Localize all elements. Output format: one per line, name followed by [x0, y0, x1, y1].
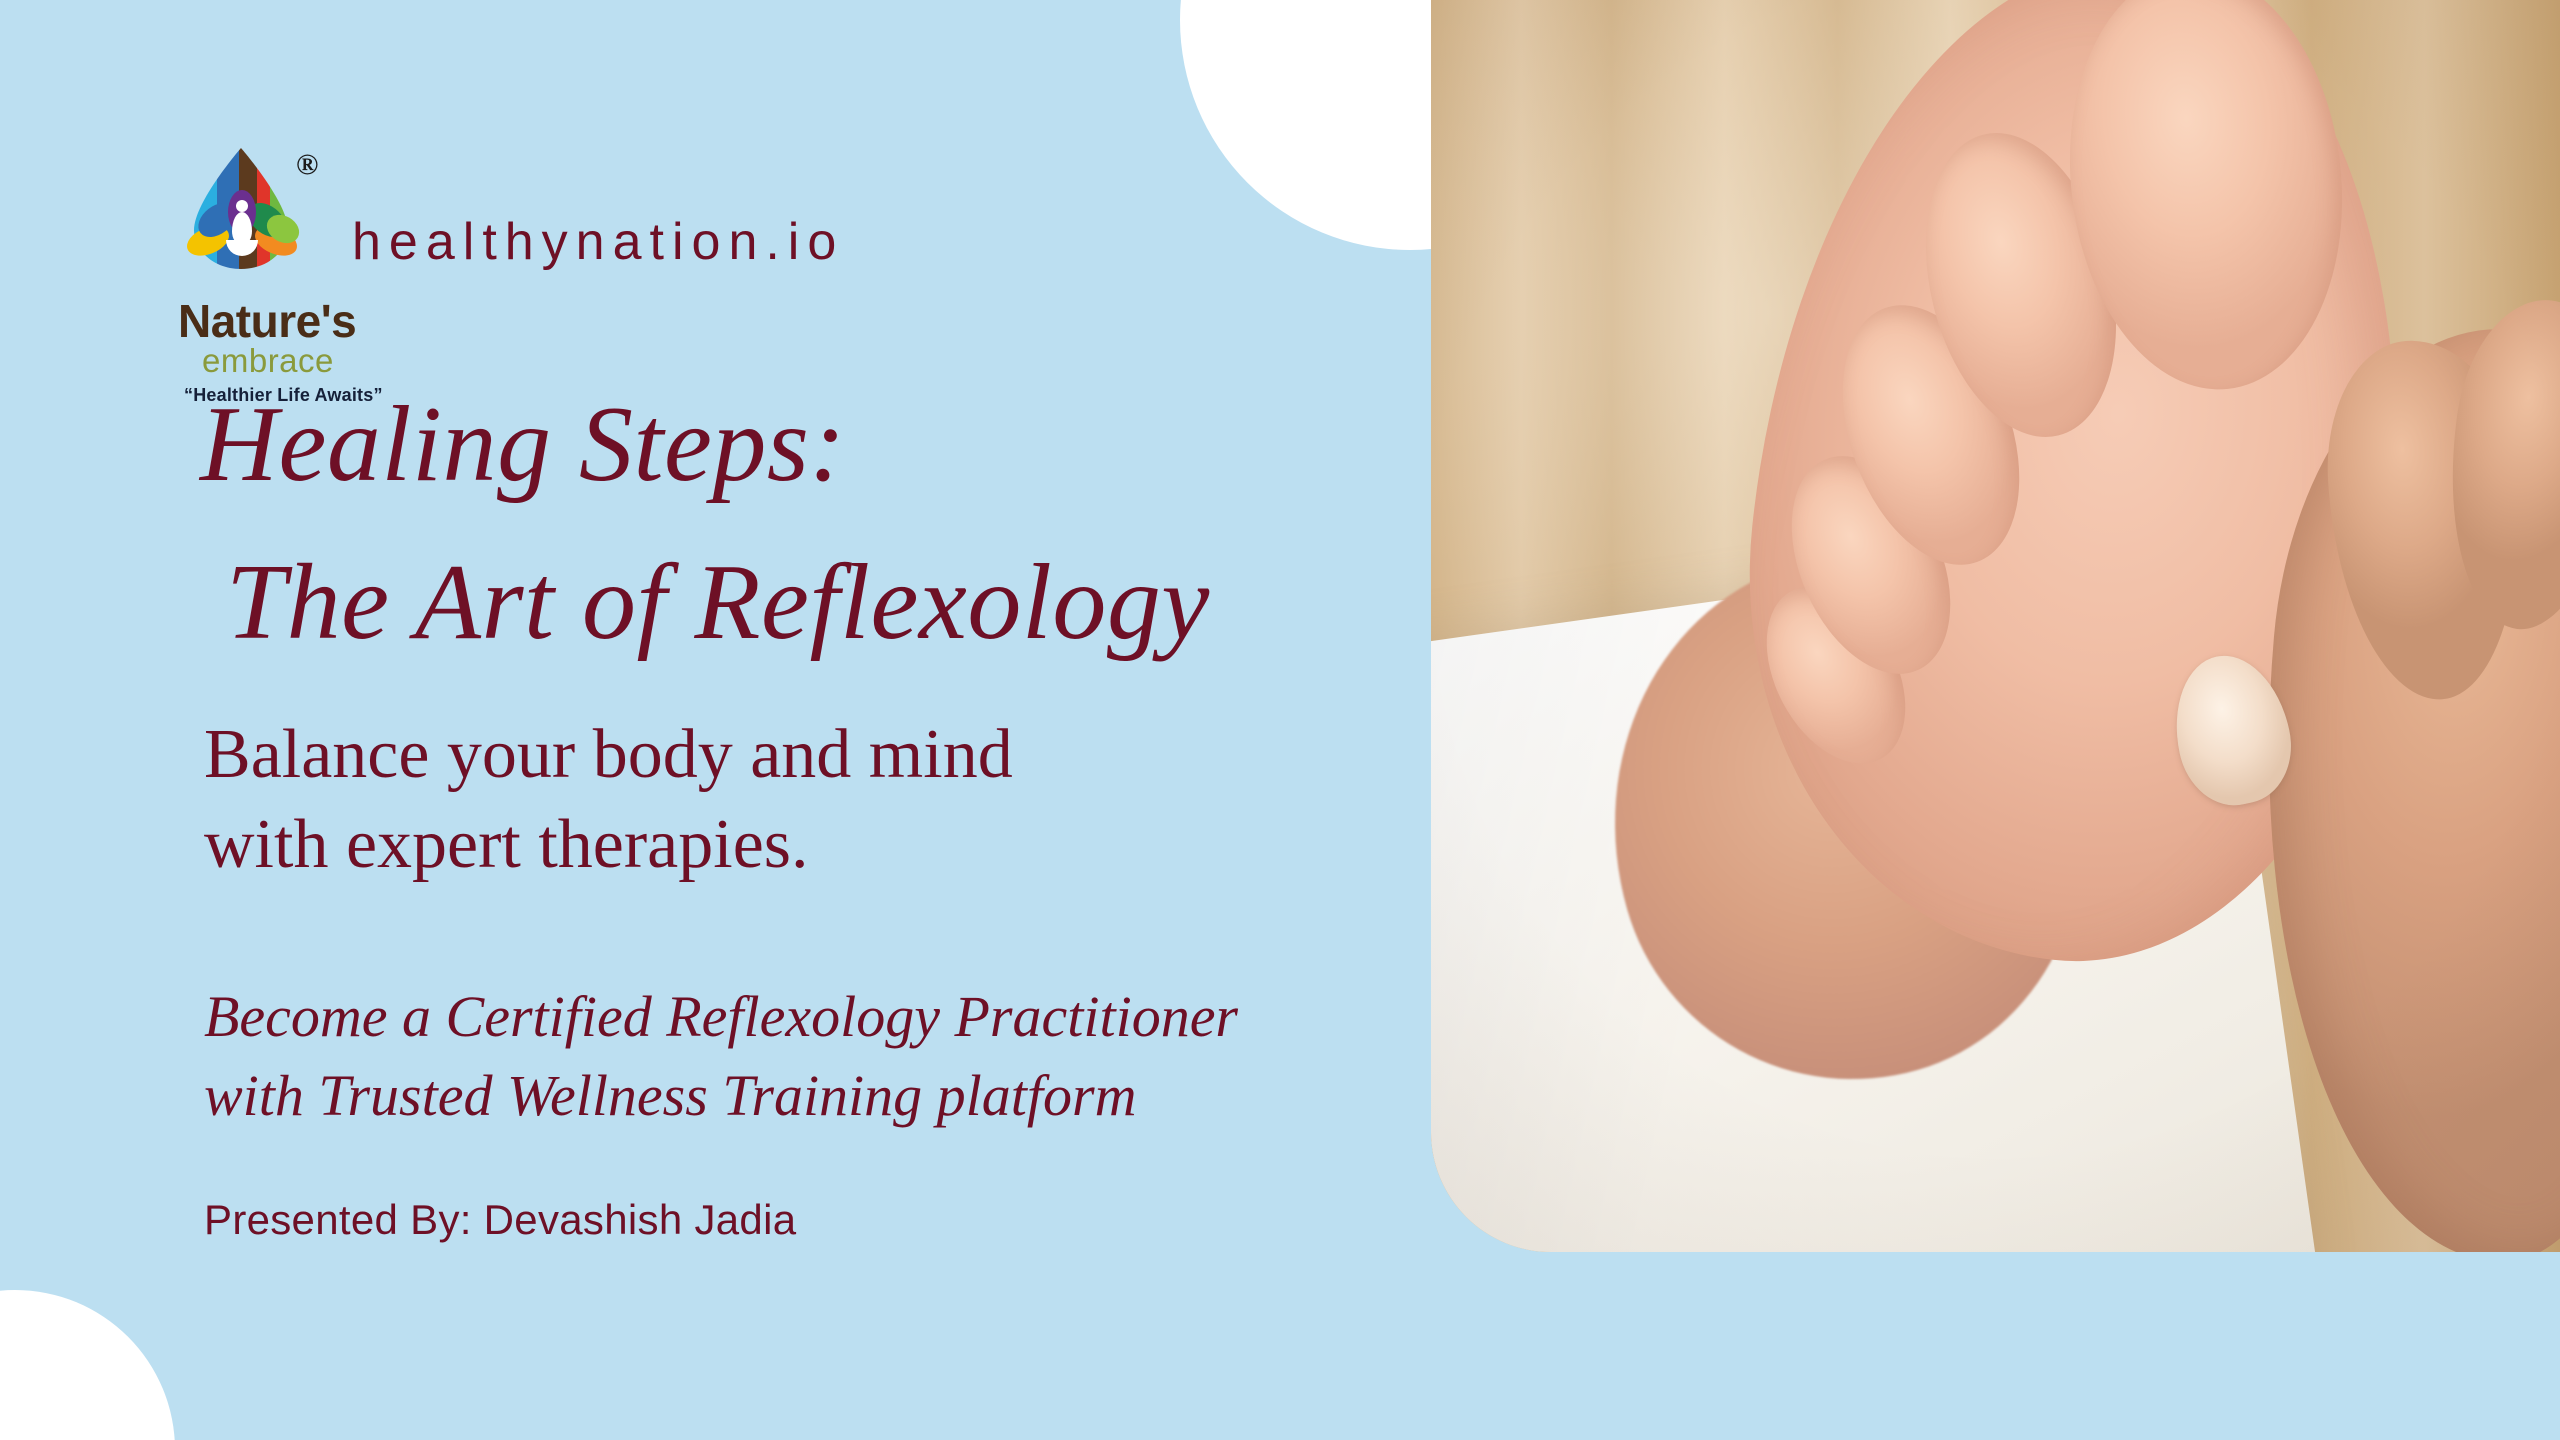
presenter-credit: Presented By: Devashish Jadia — [204, 1196, 796, 1244]
figure-head — [236, 200, 248, 212]
subtitle: Balance your body and mind with expert t… — [204, 710, 1354, 889]
call-to-action-text: Become a Certified Reflexology Practitio… — [204, 978, 1404, 1136]
subtitle-line-1: Balance your body and mind — [204, 710, 1354, 800]
presentation-slide: ® Nature's embrace “Healthier Life Await… — [0, 0, 2560, 1440]
photo-content — [1431, 0, 2560, 1252]
logo-name-secondary: embrace — [178, 344, 518, 379]
figure-legs — [226, 240, 258, 256]
page-title-line-2: The Art of Reflexology — [200, 548, 1400, 658]
brand-website-url: healthynation.io — [352, 212, 844, 272]
subtitle-line-2: with expert therapies. — [204, 800, 1354, 890]
brand-logo: ® Nature's embrace “Healthier Life Await… — [178, 148, 518, 406]
photo-vignette — [1431, 0, 2560, 1252]
logo-mark: ® — [178, 148, 306, 296]
call-to-action-line-2: with Trusted Wellness Training platform — [204, 1057, 1404, 1136]
logo-name-primary: Nature's — [178, 298, 518, 344]
foot-reflexology-massage-photo — [1431, 0, 2560, 1252]
page-title: Healing Steps: The Art of Reflexology — [200, 390, 1400, 658]
page-title-line-1: Healing Steps: — [200, 390, 1400, 500]
lotus-petals-icon — [184, 194, 300, 268]
meditating-figure-icon — [230, 200, 254, 260]
registered-trademark-icon: ® — [296, 150, 318, 180]
call-to-action-line-1: Become a Certified Reflexology Practitio… — [204, 978, 1404, 1057]
